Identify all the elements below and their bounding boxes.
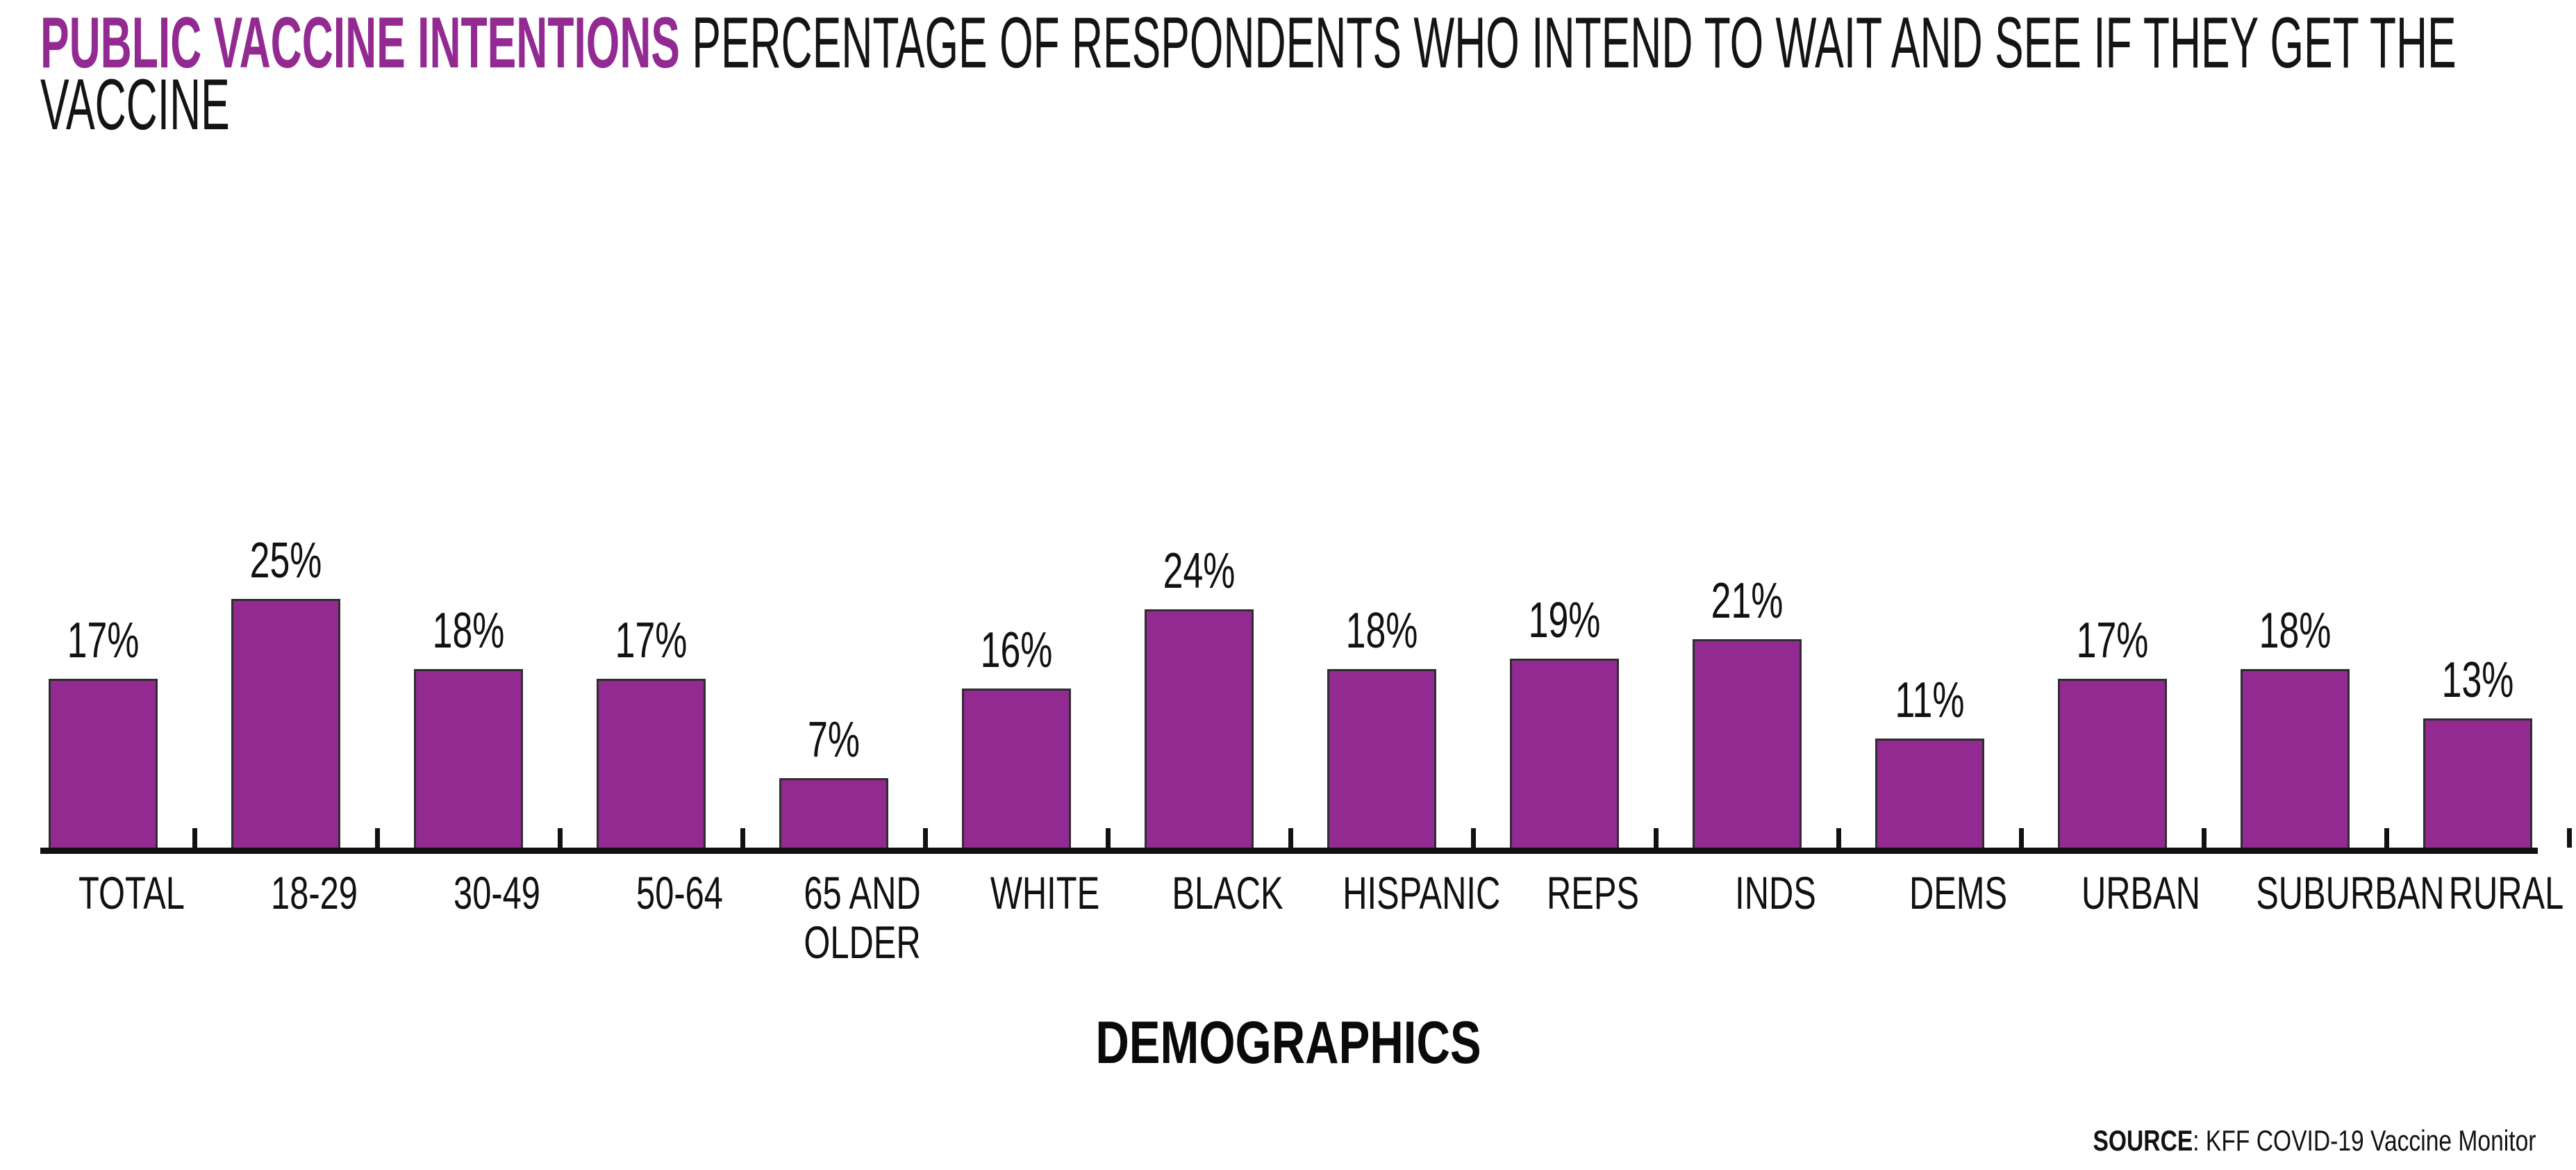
- x-axis-label: SUBURBAN: [2232, 868, 2415, 918]
- bar[interactable]: [2058, 679, 2167, 848]
- x-axis-label-line: SUBURBAN: [2256, 868, 2391, 918]
- x-axis-label: RURAL: [2415, 868, 2576, 918]
- bar[interactable]: [597, 679, 706, 848]
- bar-value-label: 7%: [795, 711, 873, 768]
- x-axis-label: WHITE: [954, 868, 1136, 918]
- x-axis-label: URBAN: [2050, 868, 2232, 918]
- x-axis-line: [40, 848, 2538, 854]
- axis-tick: [923, 828, 928, 848]
- bar[interactable]: [1510, 659, 1619, 848]
- x-axis-label-line: RURAL: [2438, 868, 2574, 918]
- bar-slot: 19%: [1502, 459, 1684, 848]
- bar-value-label: 13%: [2438, 652, 2517, 709]
- axis-tick: [2567, 828, 2572, 848]
- x-axis-label: REPS: [1502, 868, 1684, 918]
- axis-tick: [375, 828, 380, 848]
- axis-tick: [2202, 828, 2207, 848]
- source-note: SOURCE: KFF COVID-19 Vaccine Monitor: [1982, 1124, 2536, 1157]
- x-axis-labels: TOTAL18-2930-4950-6465 ANDOLDERWHITEBLAC…: [0, 868, 2576, 980]
- x-axis-label-line: DEMS: [1891, 868, 2026, 918]
- bar[interactable]: [49, 679, 158, 848]
- bar-slot: 17%: [2050, 459, 2232, 848]
- bar-value-label: 24%: [1160, 543, 1238, 600]
- chart-page: PUBLIC VACCINE INTENTIONS PERCENTAGE OF …: [0, 0, 2576, 1170]
- axis-tick: [1106, 828, 1111, 848]
- bar-chart-plot: 17%25%18%17%7%16%24%18%19%21%11%17%18%13…: [0, 445, 2576, 862]
- bar-slot: 16%: [954, 459, 1136, 848]
- bar-slot: 7%: [771, 459, 954, 848]
- axis-tick: [1471, 828, 1476, 848]
- bar[interactable]: [2241, 669, 2350, 848]
- x-axis-label: TOTAL: [40, 868, 223, 918]
- axis-tick: [1654, 828, 1659, 848]
- bar-slot: 17%: [40, 459, 223, 848]
- bar-value-label: 21%: [1708, 572, 1786, 629]
- bar-slot: 17%: [588, 459, 771, 848]
- axis-tick: [2384, 828, 2389, 848]
- axis-tick: [1288, 828, 1293, 848]
- bar-slot: 24%: [1136, 459, 1319, 848]
- bar-value-label: 18%: [1343, 602, 1421, 659]
- axis-tick: [740, 828, 745, 848]
- axis-tick: [192, 828, 197, 848]
- bar[interactable]: [414, 669, 523, 848]
- bar-value-label: 17%: [2073, 612, 2152, 669]
- bar-value-label: 19%: [1525, 592, 1604, 649]
- x-axis-label: HISPANIC: [1319, 868, 1502, 918]
- bar-slot: 18%: [406, 459, 588, 848]
- source-label: SOURCE: [2093, 1124, 2193, 1157]
- x-axis-label-line: WHITE: [977, 868, 1113, 918]
- x-axis-label: 18-29: [223, 868, 406, 918]
- x-axis-label: 65 ANDOLDER: [771, 868, 954, 968]
- bar-value-label: 17%: [612, 612, 690, 669]
- x-axis-label-line: 18-29: [247, 868, 382, 918]
- bar[interactable]: [1875, 739, 1984, 848]
- bar-value-label: 11%: [1891, 672, 1969, 729]
- x-axis-label-line: TOTAL: [64, 868, 199, 918]
- x-axis-label: 30-49: [406, 868, 588, 918]
- axis-tick: [2019, 828, 2024, 848]
- bar-slot: 18%: [2232, 459, 2415, 848]
- axis-tick: [558, 828, 563, 848]
- x-axis-label-line: HISPANIC: [1343, 868, 1478, 918]
- page-title: PUBLIC VACCINE INTENTIONS PERCENTAGE OF …: [40, 13, 2541, 137]
- x-axis-label: 50-64: [588, 868, 771, 918]
- axis-tick: [1836, 828, 1841, 848]
- bar-value-label: 18%: [2256, 602, 2334, 659]
- bar[interactable]: [231, 599, 340, 848]
- x-axis-label-line: URBAN: [2073, 868, 2209, 918]
- x-axis-label-line: REPS: [1525, 868, 1661, 918]
- bar[interactable]: [1145, 609, 1254, 848]
- bar-slot: 11%: [1867, 459, 2050, 848]
- bar[interactable]: [962, 689, 1071, 848]
- bar-value-label: 18%: [429, 602, 508, 659]
- x-axis-label-line: BLACK: [1160, 868, 1295, 918]
- bar[interactable]: [1693, 639, 1802, 848]
- x-axis-label-line: 50-64: [612, 868, 747, 918]
- x-axis-title-text: DEMOGRAPHICS: [1095, 1009, 1481, 1078]
- x-axis-label-line: OLDER: [795, 918, 930, 967]
- bar[interactable]: [2423, 718, 2532, 848]
- bar-value-label: 17%: [64, 612, 142, 669]
- bar-value-label: 16%: [977, 622, 1056, 679]
- bar-slot: 21%: [1684, 459, 1867, 848]
- source-text: : KFF COVID-19 Vaccine Monitor: [2193, 1124, 2536, 1157]
- x-axis-label: INDS: [1684, 868, 1867, 918]
- x-axis-label-line: INDS: [1708, 868, 1843, 918]
- bar-slot: 18%: [1319, 459, 1502, 848]
- bar[interactable]: [779, 778, 888, 848]
- x-axis-label: BLACK: [1136, 868, 1319, 918]
- bar-slot: 25%: [223, 459, 406, 848]
- bar[interactable]: [1327, 669, 1436, 848]
- bar-slot: 13%: [2415, 459, 2576, 848]
- bar-value-label: 25%: [247, 532, 325, 589]
- x-axis-label-line: 65 AND: [795, 868, 930, 918]
- x-axis-title: DEMOGRAPHICS: [0, 1009, 2576, 1078]
- x-axis-label-line: 30-49: [429, 868, 565, 918]
- x-axis-label: DEMS: [1867, 868, 2050, 918]
